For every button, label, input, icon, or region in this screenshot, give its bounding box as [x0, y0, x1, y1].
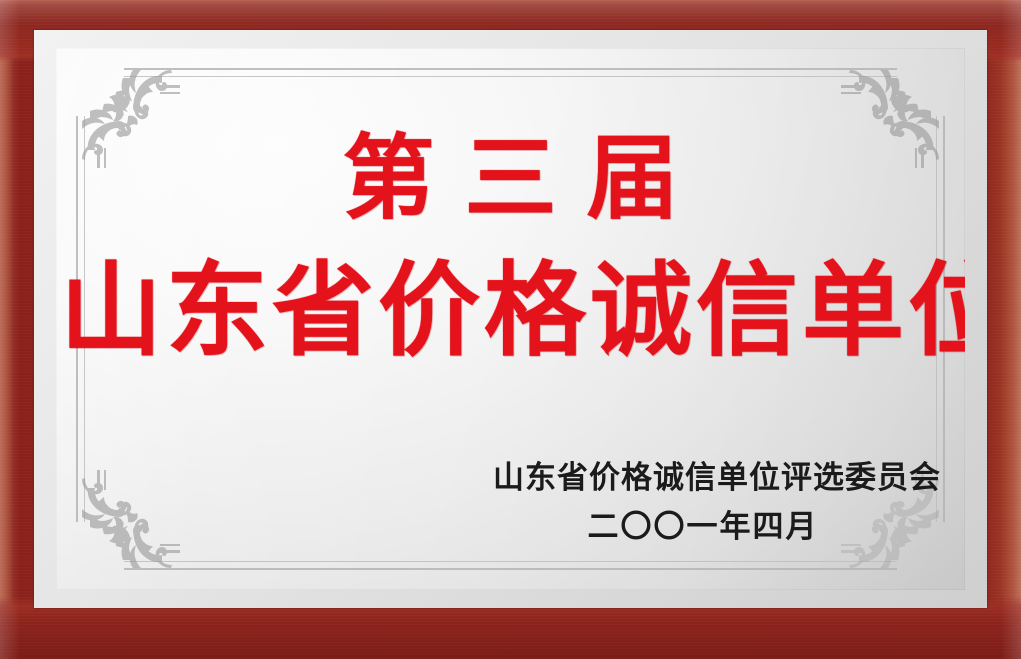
signature-block: 山东省价格诚信单位评选委员会 二〇〇一年四月 [493, 460, 913, 545]
award-title-block: 第三届 山东省价格诚信单位 [56, 132, 965, 362]
rule-top-outer [124, 68, 897, 70]
award-title-line-2: 山东省价格诚信单位 [56, 260, 965, 362]
certificate-plate: 第三届 山东省价格诚信单位 山东省价格诚信单位评选委员会 二〇〇一年四月 [56, 48, 965, 590]
rule-top-inner [124, 76, 897, 77]
issuing-organization: 山东省价格诚信单位评选委员会 [493, 460, 913, 497]
rule-bottom-outer [124, 568, 897, 570]
rule-bottom-inner [124, 561, 897, 562]
corner-ornament-bottom-left-icon [76, 470, 180, 574]
award-plaque: 第三届 山东省价格诚信单位 山东省价格诚信单位评选委员会 二〇〇一年四月 [0, 0, 1021, 659]
issue-date: 二〇〇一年四月 [493, 509, 913, 546]
award-title-line-1: 第三届 [56, 132, 965, 224]
